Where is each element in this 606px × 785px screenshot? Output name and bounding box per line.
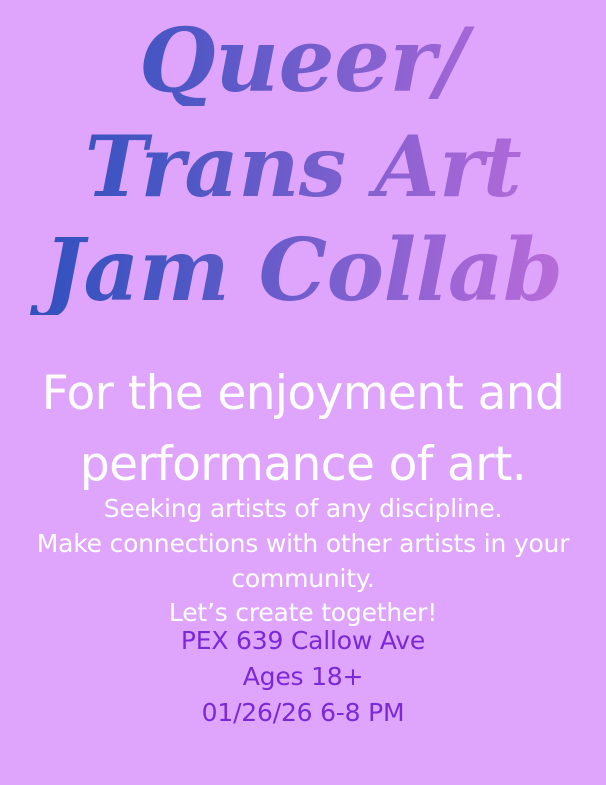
description-block: Seeking artists of any discipline. Make … [0, 492, 606, 631]
event-date-time: 01/26/26 6-8 PM [0, 695, 606, 731]
headline-line-2: Trans Art [0, 124, 606, 210]
headline-line-3: Jam Collab [0, 227, 606, 315]
description-line-seeking-artists: Seeking artists of any discipline. [0, 492, 606, 527]
event-age-requirement: Ages 18+ [0, 659, 606, 695]
description-line-community: community. [0, 562, 606, 597]
flyer-poster: Queer/ Trans Art Jam Collab For the enjo… [0, 0, 606, 785]
event-location: PEX 639 Callow Ave [0, 623, 606, 659]
subheadline-line-1: For the enjoyment and [0, 358, 606, 429]
headline-line-1: Queer/ [0, 16, 606, 106]
headline-block: Queer/ Trans Art Jam Collab [0, 0, 606, 315]
event-details-block: PEX 639 Callow Ave Ages 18+ 01/26/26 6-8… [0, 623, 606, 731]
description-line-make-connections: Make connections with other artists in y… [0, 527, 606, 562]
subheadline-block: For the enjoyment and performance of art… [0, 358, 606, 501]
subheadline-line-2: performance of art. [0, 429, 606, 500]
